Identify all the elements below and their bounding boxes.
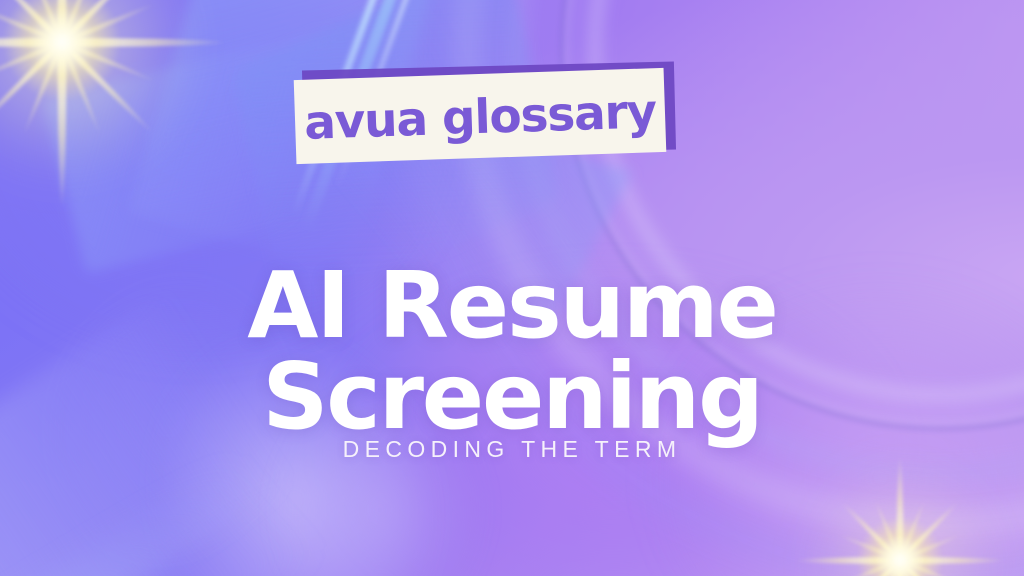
page-title: AI Resume Screening	[0, 260, 1024, 442]
badge-card: avua glossary	[294, 68, 667, 164]
title-card-canvas: avua glossary AI Resume Screening DECODI…	[0, 0, 1024, 576]
page-title-line-1: AI Resume	[0, 260, 1024, 351]
glossary-badge: avua glossary	[295, 66, 667, 156]
page-subtitle: DECODING THE TERM	[0, 436, 1024, 463]
badge-label: avua glossary	[303, 88, 656, 147]
content-layer: avua glossary AI Resume Screening DECODI…	[0, 0, 1024, 576]
page-title-line-2: Screening	[0, 351, 1024, 442]
